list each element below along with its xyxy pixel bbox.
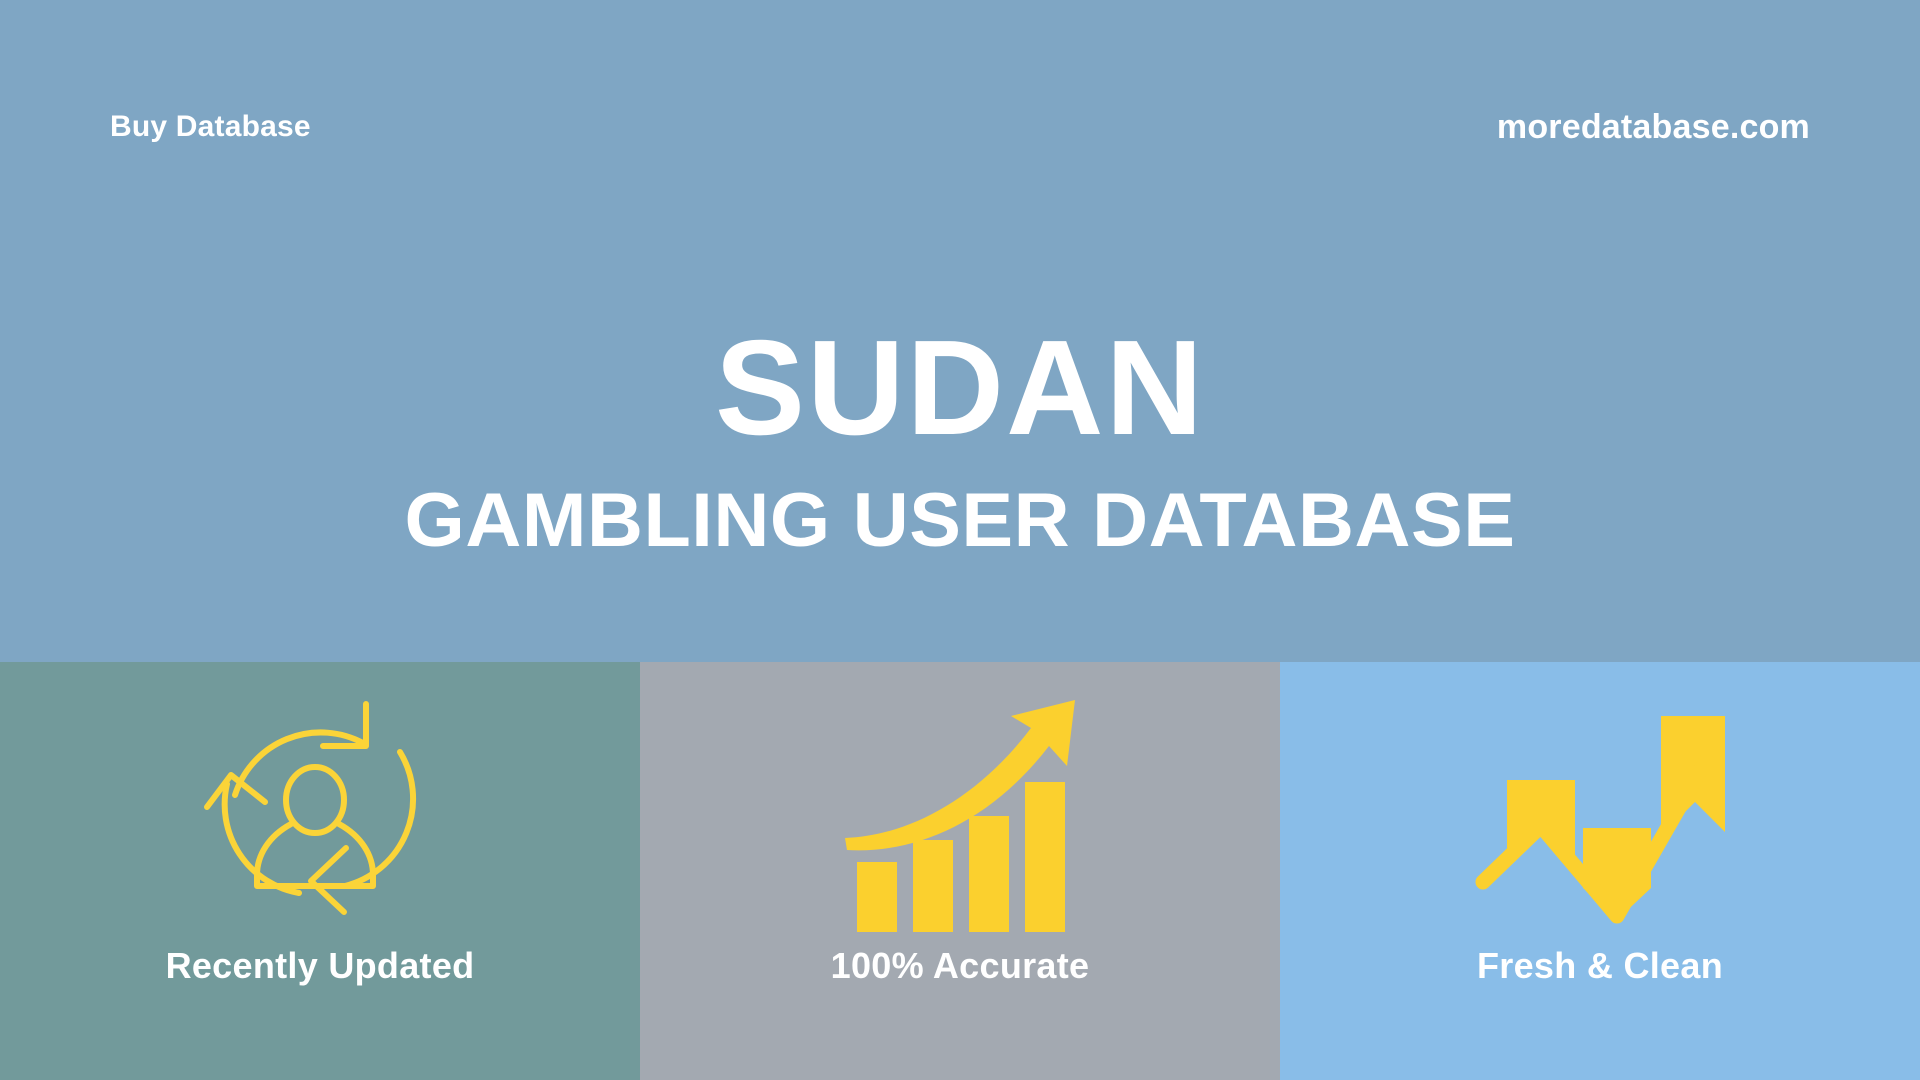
promo-banner: Buy Database moredatabase.com SUDAN GAMB… (0, 0, 1920, 1080)
title-block: SUDAN GAMBLING USER DATABASE (0, 320, 1920, 559)
banner-header: Buy Database moredatabase.com SUDAN GAMB… (0, 0, 1920, 662)
feature-panel-label: Fresh & Clean (1477, 948, 1723, 984)
growth-bar-chart-arrow-icon (835, 690, 1085, 940)
bar-chart-trend-arrow-icon (1475, 690, 1725, 940)
feature-panel-label: 100% Accurate (831, 948, 1090, 984)
feature-panels: Recently Updated 100% Accurate (0, 662, 1920, 1080)
feature-panel-recently-updated[interactable]: Recently Updated (0, 662, 640, 1080)
page-title: SUDAN (0, 320, 1920, 455)
user-refresh-cycle-icon (195, 690, 445, 940)
feature-panel-fresh-clean[interactable]: Fresh & Clean (1280, 662, 1920, 1080)
feature-panel-label: Recently Updated (166, 948, 475, 984)
feature-panel-100-accurate[interactable]: 100% Accurate (640, 662, 1280, 1080)
page-subtitle: GAMBLING USER DATABASE (0, 483, 1920, 559)
site-url[interactable]: moredatabase.com (1497, 110, 1810, 144)
brand-label: Buy Database (110, 112, 311, 142)
